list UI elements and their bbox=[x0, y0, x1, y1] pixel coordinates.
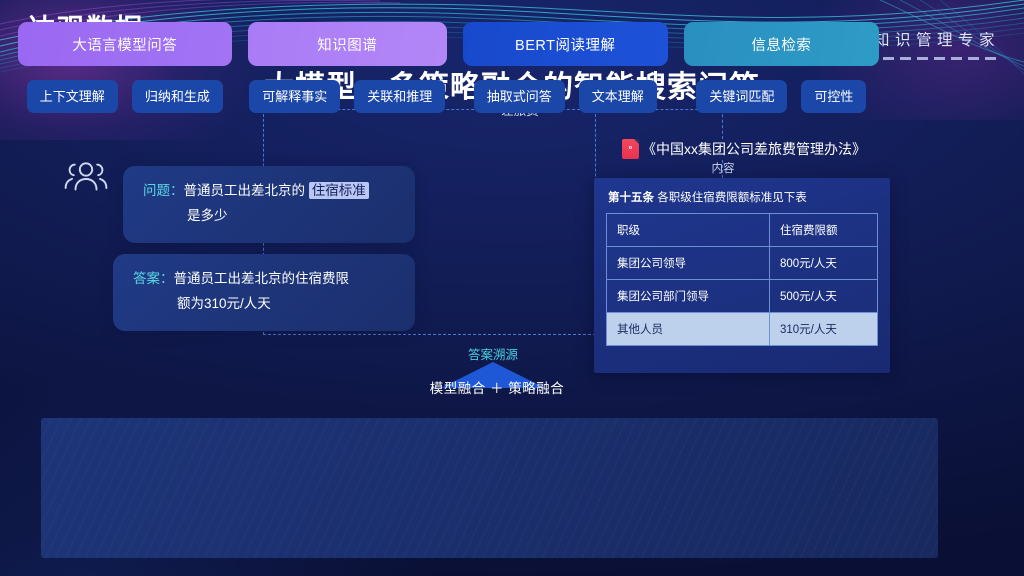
flow-label-content: 内容 bbox=[694, 160, 752, 176]
answer-source-label: 答案溯源 bbox=[438, 344, 548, 363]
table-row: 集团公司领导 800元/人天 bbox=[607, 247, 878, 280]
slide-canvas: 达观数据 DATA GRAND 智能知识管理专家 大模型、多策略融合的智能搜索问… bbox=[0, 0, 1024, 576]
answer-line-1: 答案：普通员工出差北京的住宿费限 bbox=[133, 267, 395, 292]
capability-column-retrieval: 信息检索 关键词匹配 可控性 bbox=[684, 22, 879, 122]
table-row-highlighted: 其他人员 310元/人天 bbox=[607, 313, 878, 346]
question-line-1: 问题：普通员工出差北京的 住宿标准 bbox=[143, 179, 395, 204]
capability-tag[interactable]: 可解释事实 bbox=[249, 80, 340, 113]
question-bubble: 问题：普通员工出差北京的 住宿标准 是多少 bbox=[123, 166, 415, 243]
capability-column-kg: 知识图谱 可解释事实 关联和推理 bbox=[248, 22, 447, 122]
clause-heading: 第十五条 各职级住宿费限额标准见下表 bbox=[606, 189, 878, 205]
capability-tag[interactable]: 关联和推理 bbox=[354, 80, 445, 113]
capability-column-bert: BERT阅读理解 抽取式问答 文本理解 bbox=[463, 22, 668, 122]
capability-tag[interactable]: 可控性 bbox=[801, 80, 866, 113]
document-file-name: 《中国xx集团公司差旅费管理办法》 bbox=[642, 139, 866, 159]
users-icon bbox=[64, 158, 108, 196]
clause-number: 第十五条 bbox=[608, 192, 654, 204]
allowance-table: 职级 住宿费限额 集团公司领导 800元/人天 集团公司部门领导 500元/人天… bbox=[606, 213, 878, 346]
answer-label: 答案： bbox=[133, 271, 174, 286]
table-cell-amount: 800元/人天 bbox=[770, 247, 878, 280]
capability-column-llm: 大语言模型问答 上下文理解 归纳和生成 bbox=[18, 22, 232, 122]
table-header-row: 职级 住宿费限额 bbox=[607, 214, 878, 247]
capability-tags-kg: 可解释事实 关联和推理 bbox=[248, 80, 447, 113]
capability-tag[interactable]: 归纳和生成 bbox=[132, 80, 223, 113]
capability-tag[interactable]: 抽取式问答 bbox=[474, 80, 565, 113]
capability-columns: 大语言模型问答 上下文理解 归纳和生成 知识图谱 可解释事实 关联和推理 BER… bbox=[0, 0, 897, 140]
capability-tags-retrieval: 关键词匹配 可控性 bbox=[684, 80, 879, 113]
capability-head-kg[interactable]: 知识图谱 bbox=[248, 22, 447, 66]
pdf-glyph: ᵒ bbox=[622, 139, 639, 159]
capability-head-retrieval[interactable]: 信息检索 bbox=[684, 22, 879, 66]
capability-head-bert[interactable]: BERT阅读理解 bbox=[463, 22, 668, 66]
question-highlight: 住宿标准 bbox=[309, 182, 369, 199]
capability-tags-llm: 上下文理解 归纳和生成 bbox=[18, 80, 232, 113]
question-line-2: 是多少 bbox=[143, 204, 395, 229]
table-cell-level: 集团公司部门领导 bbox=[607, 280, 770, 313]
capability-tag[interactable]: 上下文理解 bbox=[27, 80, 118, 113]
table-cell-amount: 500元/人天 bbox=[770, 280, 878, 313]
clause-text: 各职级住宿费限额标准见下表 bbox=[654, 192, 807, 204]
table-header-amount: 住宿费限额 bbox=[770, 214, 878, 247]
capability-head-llm[interactable]: 大语言模型问答 bbox=[18, 22, 232, 66]
document-reference[interactable]: ᵒ 《中国xx集团公司差旅费管理办法》 bbox=[622, 139, 866, 159]
document-panel: 第十五条 各职级住宿费限额标准见下表 职级 住宿费限额 集团公司领导 800元/… bbox=[594, 178, 890, 373]
fusion-label: 模型融合 ＋ 策略融合 bbox=[399, 377, 595, 397]
question-label: 问题： bbox=[143, 183, 184, 198]
table-cell-level: 其他人员 bbox=[607, 313, 770, 346]
table-row: 集团公司部门领导 500元/人天 bbox=[607, 280, 878, 313]
answer-line-2: 额为310元/人天 bbox=[133, 292, 395, 317]
pdf-file-icon: ᵒ bbox=[622, 139, 639, 159]
answer-text-1: 普通员工出差北京的住宿费限 bbox=[174, 271, 350, 286]
capability-panel bbox=[41, 418, 938, 558]
table-header-level: 职级 bbox=[607, 214, 770, 247]
capability-tags-bert: 抽取式问答 文本理解 bbox=[463, 80, 668, 113]
table-cell-level: 集团公司领导 bbox=[607, 247, 770, 280]
question-text-before: 普通员工出差北京的 bbox=[184, 183, 309, 198]
table-cell-amount: 310元/人天 bbox=[770, 313, 878, 346]
capability-tag[interactable]: 文本理解 bbox=[579, 80, 657, 113]
capability-tag[interactable]: 关键词匹配 bbox=[696, 80, 787, 113]
answer-bubble: 答案：普通员工出差北京的住宿费限 额为310元/人天 bbox=[113, 254, 415, 331]
